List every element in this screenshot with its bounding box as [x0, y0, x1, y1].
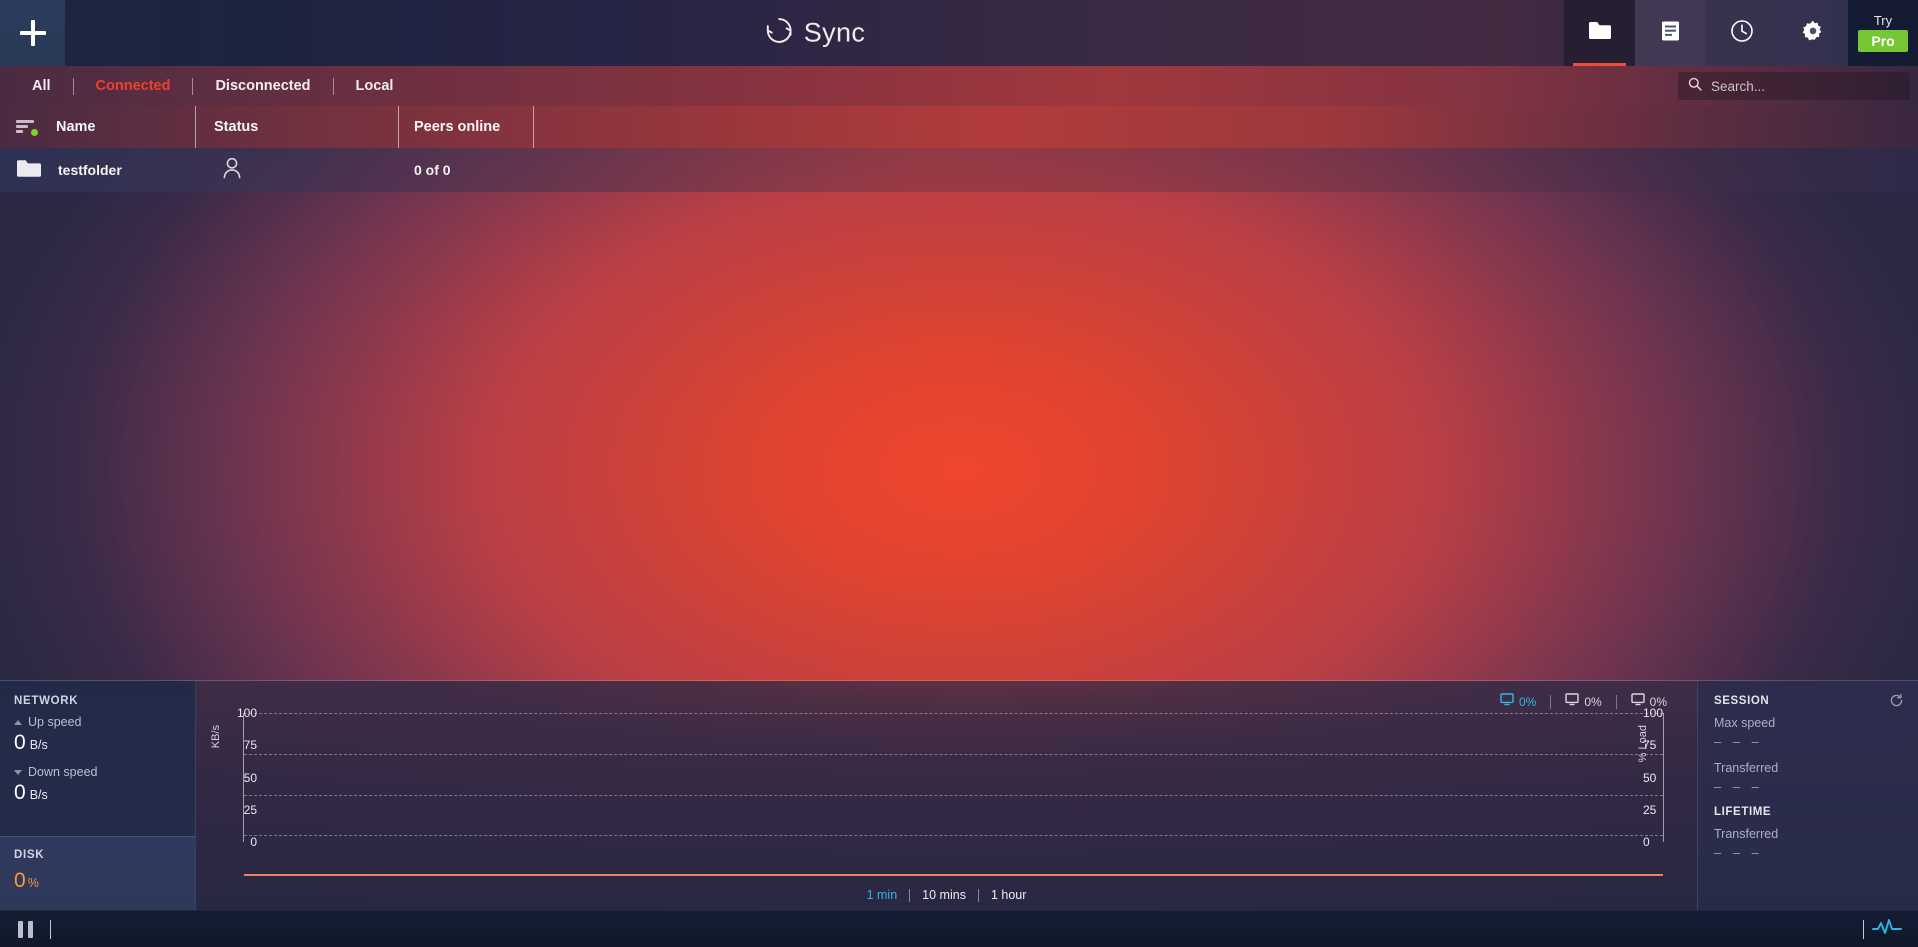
y-tick: 75 — [217, 738, 257, 752]
add-folder-button[interactable] — [0, 0, 65, 66]
status-right-group — [1863, 911, 1918, 947]
network-title: NETWORK — [14, 695, 181, 707]
sync-app-window: Sync — [0, 0, 1918, 947]
up-speed-label-row: Up speed — [14, 715, 181, 729]
search-box[interactable] — [1678, 72, 1910, 100]
up-speed-value-row: 0B/s — [14, 730, 181, 756]
y-tick: 25 — [217, 803, 257, 817]
nav-preferences-button[interactable] — [1777, 0, 1848, 66]
search-input[interactable] — [1711, 79, 1900, 94]
down-speed-label: Down speed — [28, 765, 98, 779]
side-stats-panel: NETWORK Up speed 0B/s Down speed 0B/s DI… — [0, 681, 196, 910]
up-speed-unit: B/s — [30, 738, 48, 752]
load-indicators: 0% 0% — [1486, 693, 1681, 711]
disk-value: 0 — [14, 869, 26, 892]
column-header-name[interactable]: Name — [0, 106, 196, 148]
bandwidth-chart-panel: 0% 0% — [196, 681, 1697, 910]
table-row[interactable]: testfolder 0 of 0 — [0, 148, 1918, 192]
sync-circular-arrows-icon — [764, 16, 794, 51]
bottom-panel: NETWORK Up speed 0B/s Down speed 0B/s DI… — [0, 680, 1918, 910]
chart-series-line — [244, 874, 1663, 876]
topbar-center: Sync — [65, 0, 1564, 66]
nav-devices-button[interactable] — [1635, 0, 1706, 66]
top-bar: Sync — [0, 0, 1918, 66]
plus-icon — [20, 20, 46, 46]
load-indicator-2-value: 0% — [1584, 695, 1601, 709]
monitor-icon — [1500, 693, 1514, 711]
filter-tab-disconnected[interactable]: Disconnected — [193, 78, 332, 94]
network-stats: NETWORK Up speed 0B/s Down speed 0B/s — [0, 681, 195, 836]
load-indicator-1[interactable]: 0% — [1486, 693, 1550, 711]
status-bar — [0, 910, 1918, 947]
folder-icon — [16, 158, 42, 182]
lifetime-transferred-label: Transferred — [1714, 827, 1902, 841]
session-transferred-label: Transferred — [1714, 761, 1902, 775]
cell-status — [196, 157, 399, 184]
chart-gridline — [244, 713, 1663, 714]
up-speed-value: 0 — [14, 731, 26, 754]
session-transferred-value: – – – — [1714, 779, 1902, 794]
filter-tabs: All Connected Disconnected Local — [0, 78, 415, 95]
load-indicator-3[interactable]: 0% — [1617, 693, 1681, 711]
reset-circular-arrow-icon[interactable] — [1889, 693, 1904, 713]
chart-gridline — [244, 754, 1663, 755]
filter-tab-local[interactable]: Local — [334, 78, 416, 94]
monitor-icon — [1565, 693, 1579, 711]
monitor-icon — [1631, 693, 1645, 711]
down-speed-value-row: 0B/s — [14, 780, 181, 806]
chart-right-axis-line — [1663, 713, 1664, 842]
chart-gridline — [244, 835, 1663, 836]
person-icon — [222, 157, 242, 184]
time-range-1hour[interactable]: 1 hour — [979, 888, 1038, 902]
try-pro-button[interactable]: Try Pro — [1848, 0, 1918, 66]
disk-title: DISK — [14, 849, 181, 861]
top-nav-icons: Try Pro — [1564, 0, 1918, 66]
search-icon — [1688, 77, 1702, 96]
row-name-label: testfolder — [58, 162, 122, 178]
column-header-peers-label: Peers online — [414, 119, 500, 135]
down-speed-value: 0 — [14, 781, 26, 804]
activity-toggle-button[interactable] — [1864, 911, 1910, 947]
y-tick: 0 — [217, 835, 257, 849]
time-range-1min[interactable]: 1 min — [855, 888, 910, 902]
session-max-speed-label: Max speed — [1714, 716, 1902, 730]
gear-icon — [1801, 19, 1825, 48]
pause-icon — [18, 921, 33, 938]
session-title: SESSION — [1714, 695, 1902, 707]
status-divider — [50, 920, 51, 939]
chart-gridline — [244, 795, 1663, 796]
filter-tab-all[interactable]: All — [10, 78, 73, 94]
try-label: Try — [1874, 14, 1892, 27]
disk-unit: % — [28, 876, 39, 890]
arrow-down-icon — [14, 770, 22, 775]
time-range-10mins[interactable]: 10 mins — [910, 888, 978, 902]
column-header-name-label: Name — [56, 119, 96, 135]
activity-pulse-icon — [1872, 918, 1902, 941]
document-icon — [1660, 20, 1681, 47]
pro-badge: Pro — [1858, 30, 1907, 53]
chart-y-ticks: 100 75 50 25 0 — [217, 713, 257, 842]
column-header-status[interactable]: Status — [196, 106, 399, 148]
cell-peers-online: 0 of 0 — [399, 162, 534, 178]
lifetime-transferred-value: – – – — [1714, 845, 1902, 860]
table-header: Name Status Peers online — [0, 106, 1918, 148]
down-speed-unit: B/s — [30, 788, 48, 802]
load-indicator-3-value: 0% — [1650, 695, 1667, 709]
cell-name: testfolder — [0, 158, 196, 182]
pause-button[interactable] — [0, 911, 50, 947]
app-title: Sync — [804, 18, 866, 49]
disk-value-row: 0% — [14, 869, 181, 893]
filter-lines-icon[interactable] — [16, 120, 36, 134]
load-indicator-1-value: 0% — [1519, 695, 1536, 709]
arrow-up-icon — [14, 720, 22, 725]
chart-plot-area: KB/s % Load 100 75 50 25 0 100 75 50 25 — [196, 713, 1697, 910]
clock-icon — [1730, 19, 1754, 48]
filter-bar: All Connected Disconnected Local — [0, 66, 1918, 106]
y-tick: 50 — [217, 771, 257, 785]
up-speed-label: Up speed — [28, 715, 82, 729]
session-max-speed-value: – – – — [1714, 734, 1902, 749]
down-speed-label-row: Down speed — [14, 765, 181, 779]
chart-left-axis-line — [243, 713, 244, 842]
chart-time-range-selector: 1 min 10 mins 1 hour — [196, 888, 1697, 902]
column-header-filler — [534, 106, 1918, 148]
nav-folders-button[interactable] — [1564, 0, 1635, 66]
filter-tab-connected[interactable]: Connected — [74, 78, 193, 94]
column-header-status-label: Status — [214, 119, 258, 135]
folder-icon — [1588, 20, 1612, 46]
app-logo: Sync — [764, 16, 866, 51]
lifetime-title: LIFETIME — [1714, 806, 1902, 818]
nav-history-button[interactable] — [1706, 0, 1777, 66]
disk-stats: DISK 0% — [0, 836, 195, 910]
session-panel: SESSION Max speed – – – Transferred – – … — [1697, 681, 1918, 910]
chart-grid-area: 100 75 50 25 0 100 75 50 25 0 — [244, 713, 1663, 876]
column-header-peers-online[interactable]: Peers online — [399, 106, 534, 148]
load-indicator-2[interactable]: 0% — [1551, 693, 1615, 711]
